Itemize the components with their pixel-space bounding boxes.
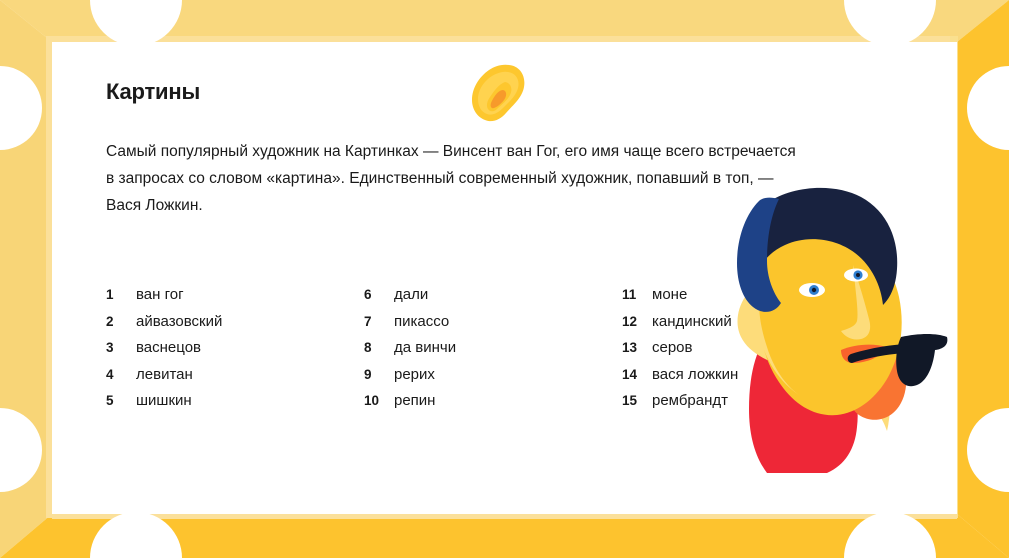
frame-rail-right [957, 0, 1009, 558]
rank-label: шишкин [136, 392, 192, 409]
rank-number: 14 [622, 367, 652, 382]
intro-paragraph-block: Самый популярный художник на Картинках —… [106, 138, 846, 219]
ranked-list-column-3: 11 моне 12 кандинский 13 серов 14 вася л… [622, 286, 880, 419]
slide-content: Картины Самый популярный художник на Кар… [52, 42, 957, 514]
ranked-list-column-1: 1 ван гог 2 айвазовский 3 васнецов 4 лев… [106, 286, 364, 419]
rank-number: 11 [622, 287, 652, 302]
list-item[interactable]: 4 левитан [106, 366, 364, 393]
rank-number: 8 [364, 340, 394, 355]
rank-label: дали [394, 286, 428, 303]
rank-label: моне [652, 286, 687, 303]
list-item[interactable]: 8 да винчи [364, 339, 622, 366]
rank-number: 13 [622, 340, 652, 355]
list-item[interactable]: 13 серов [622, 339, 880, 366]
rank-label: вася ложкин [652, 366, 738, 383]
frame-rail-top [0, 0, 1009, 42]
frame-rail-left [0, 0, 52, 558]
list-item[interactable]: 3 васнецов [106, 339, 364, 366]
list-item[interactable]: 9 рерих [364, 366, 622, 393]
portrait-eye-right-iris [853, 270, 862, 279]
rank-label: пикассо [394, 313, 449, 330]
ranked-list-2: 6 дали 7 пикассо 8 да винчи 9 рерих [364, 286, 622, 419]
rank-label: серов [652, 339, 693, 356]
list-item[interactable]: 14 вася ложкин [622, 366, 880, 393]
list-item[interactable]: 1 ван гог [106, 286, 364, 313]
rank-label: да винчи [394, 339, 456, 356]
ranked-lists: 1 ван гог 2 айвазовский 3 васнецов 4 лев… [106, 286, 906, 419]
list-item[interactable]: 6 дали [364, 286, 622, 313]
rank-label: ван гог [136, 286, 184, 303]
rank-number: 2 [106, 314, 136, 329]
list-item[interactable]: 2 айвазовский [106, 313, 364, 340]
rank-label: рерих [394, 366, 435, 383]
frame-rail-bottom [0, 514, 1009, 558]
rank-number: 6 [364, 287, 394, 302]
portrait-eye-right-pupil [856, 273, 860, 277]
list-item[interactable]: 11 моне [622, 286, 880, 313]
ranked-list-3: 11 моне 12 кандинский 13 серов 14 вася л… [622, 286, 880, 419]
rank-label: васнецов [136, 339, 201, 356]
page-title: Картины [106, 79, 200, 105]
rank-number: 7 [364, 314, 394, 329]
rank-number: 12 [622, 314, 652, 329]
rank-number: 10 [364, 393, 394, 408]
rank-number: 3 [106, 340, 136, 355]
ear-icon [465, 60, 531, 126]
rank-label: репин [394, 392, 435, 409]
slide-canvas: Картины Самый популярный художник на Кар… [0, 0, 1009, 558]
rank-label: айвазовский [136, 313, 222, 330]
list-item[interactable]: 5 шишкин [106, 392, 364, 419]
list-item[interactable]: 12 кандинский [622, 313, 880, 340]
rank-label: рембрандт [652, 392, 728, 409]
rank-number: 5 [106, 393, 136, 408]
rank-label: левитан [136, 366, 193, 383]
intro-paragraph: Самый популярный художник на Картинках —… [106, 138, 846, 219]
portrait-eye-right-white [844, 269, 868, 282]
list-item[interactable]: 15 рембрандт [622, 392, 880, 419]
rank-label: кандинский [652, 313, 732, 330]
list-item[interactable]: 7 пикассо [364, 313, 622, 340]
list-item[interactable]: 10 репин [364, 392, 622, 419]
ranked-list-column-2: 6 дали 7 пикассо 8 да винчи 9 рерих [364, 286, 622, 419]
rank-number: 4 [106, 367, 136, 382]
rank-number: 9 [364, 367, 394, 382]
rank-number: 15 [622, 393, 652, 408]
ranked-list-1: 1 ван гог 2 айвазовский 3 васнецов 4 лев… [106, 286, 364, 419]
rank-number: 1 [106, 287, 136, 302]
